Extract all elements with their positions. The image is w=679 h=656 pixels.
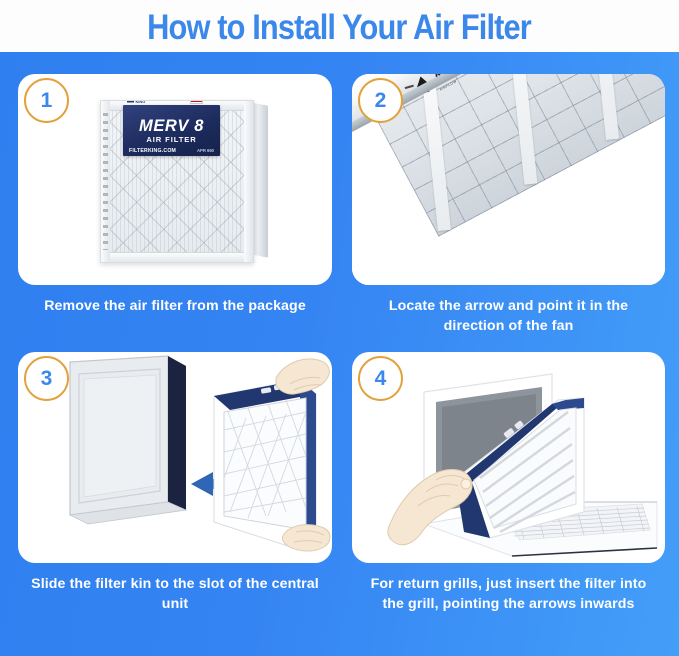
step-3-caption: Slide the filter kin to the slot of the …: [18, 574, 332, 614]
step-2-card: Air Filter AIRFLOW 2: [352, 74, 665, 285]
filter-frame-right: [244, 101, 253, 262]
step-2-caption: Locate the arrow and point it in the dir…: [352, 296, 665, 336]
hand-top: [276, 359, 329, 394]
step-3-card: 3: [18, 352, 332, 563]
step-number-badge-3: 3: [24, 356, 69, 401]
steps-canvas: FILTER KING MADE IN USA: [0, 52, 679, 656]
filter-king-logo: FILTER KING: [127, 100, 149, 104]
step-1: FILTER KING MADE IN USA: [18, 74, 332, 340]
crown-icon: [127, 100, 134, 103]
filter-king-wordmark: FILTER KING: [136, 100, 149, 104]
step-4-caption: For return grills, just insert the filte…: [352, 574, 665, 614]
step-3: 3 Slide the filter kin to the slot of th…: [18, 352, 332, 640]
page-title: How to Install Your Air Filter: [148, 10, 532, 45]
step-1-card: FILTER KING MADE IN USA: [18, 74, 332, 285]
filter-label-footer: FILTERKING.COM APR 650: [123, 148, 220, 154]
filter-pleat-tabs: [103, 113, 108, 250]
product-type-label: AIR FILTER: [123, 135, 220, 144]
website-text: FILTERKING.COM: [129, 148, 176, 154]
card-2-white-fill: [352, 237, 665, 285]
step-2: Air Filter AIRFLOW 2 Locate the arrow an…: [352, 74, 665, 340]
us-flag-icon: [190, 100, 203, 104]
replacement-filter: [214, 380, 316, 550]
step-number-badge-1: 1: [24, 78, 69, 123]
step-4: 4 For return grills, just insert the fil…: [352, 352, 665, 640]
merv-rating: MERV 8: [123, 117, 220, 136]
apr-rating-text: APR 650: [197, 148, 214, 154]
central-unit-slab: [70, 356, 186, 524]
step-number-badge-2: 2: [358, 78, 403, 123]
air-filter-product: FILTER KING MADE IN USA: [100, 100, 268, 265]
made-in-usa-text: MADE IN USA: [204, 100, 216, 104]
step-4-card: 4: [352, 352, 665, 563]
infographic-page: How to Install Your Air Filter: [0, 0, 679, 656]
steps-grid: FILTER KING MADE IN USA: [0, 52, 679, 656]
header-bar: How to Install Your Air Filter: [0, 0, 679, 52]
step-number-badge-4: 4: [358, 356, 403, 401]
step-1-caption: Remove the air filter from the package: [18, 296, 332, 316]
hand-bottom: [282, 525, 330, 551]
filter-front-face: FILTER KING MADE IN USA: [100, 100, 254, 263]
filter-frame-bottom: [101, 252, 253, 262]
brand-line-2: KING: [136, 100, 146, 104]
made-in-usa-badge: MADE IN USA: [190, 100, 216, 104]
country-label: USA: [204, 100, 216, 104]
filter-label-panel: MERV 8 AIR FILTER FILTERKING.COM APR 650: [123, 105, 220, 156]
